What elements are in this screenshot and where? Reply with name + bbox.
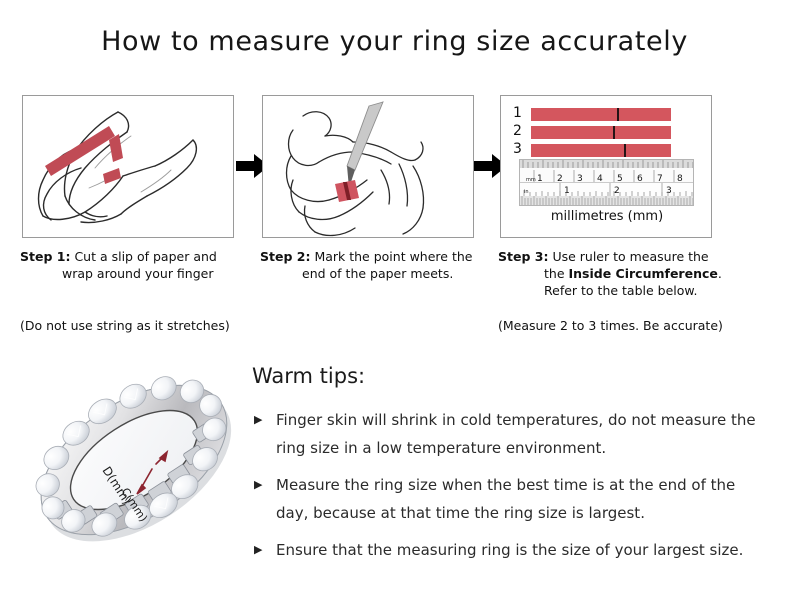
strip-2-bar	[531, 126, 671, 139]
step-3-text-1: Use ruler to measure the	[552, 249, 708, 264]
step-1-note: (Do not use string as it stretches)	[20, 317, 230, 334]
ruler-caption: millimetres (mm)	[501, 209, 712, 224]
svg-text:mm: mm	[526, 177, 536, 183]
strip-2-label: 2	[513, 123, 527, 139]
svg-text:4: 4	[597, 174, 603, 184]
measured-strip-3: 3	[513, 144, 703, 157]
svg-text:6: 6	[637, 174, 643, 184]
step-3-note: (Measure 2 to 3 times. Be accurate)	[498, 317, 723, 334]
triangle-bullet-icon: ▶	[254, 536, 262, 564]
step-1-caption-line-1: Step 1: Cut a slip of paper and	[20, 248, 252, 265]
svg-text:8: 8	[677, 174, 683, 184]
step-3-illustration-panel: 1 2 3 mm 1	[500, 95, 712, 238]
step-2-caption: Step 2: Mark the point where the end of …	[260, 248, 492, 282]
step-2-text-1: Mark the point where the	[314, 249, 472, 264]
warm-tips-section: Warm tips: ▶ Finger skin will shrink in …	[252, 362, 772, 573]
strip-3-mark	[624, 144, 626, 157]
step-3-caption: Step 3: Use ruler to measure the the Ins…	[498, 248, 768, 299]
svg-text:3: 3	[666, 186, 672, 196]
step-1-caption-line-2: wrap around your finger	[20, 265, 252, 282]
warm-tip-text-1: Finger skin will shrink in cold temperat…	[276, 411, 756, 457]
step-3-caption-line-1: Step 3: Use ruler to measure the	[498, 248, 768, 265]
marker-pen	[347, 102, 383, 188]
step-1-caption: Step 1: Cut a slip of paper and wrap aro…	[20, 248, 252, 282]
svg-text:2: 2	[614, 186, 620, 196]
step-1-illustration-panel	[22, 95, 234, 238]
ring-diagram: D(mm) C(mm)	[18, 352, 250, 567]
svg-text:3: 3	[577, 174, 583, 184]
step-2-illustration-panel	[262, 95, 474, 238]
step-3-text-2-suffix: .	[718, 266, 722, 281]
step-3-lead: Step 3:	[498, 249, 548, 264]
ruler-graphic: mm 1 2 3 4 5 6 7 8 in 1	[519, 159, 694, 206]
strip-1-label: 1	[513, 105, 527, 121]
paper-slip-red	[335, 180, 359, 202]
hand-marking-paper-illustration	[263, 96, 474, 238]
strip-3-bar	[531, 144, 671, 157]
step-3-emphasis-inside-circumference: Inside Circumference	[569, 266, 718, 281]
warm-tip-item-1: ▶ Finger skin will shrink in cold temper…	[252, 406, 772, 462]
strip-2-mark	[613, 126, 615, 139]
step-2-caption-line-1: Step 2: Mark the point where the	[260, 248, 492, 265]
warm-tip-item-2: ▶ Measure the ring size when the best ti…	[252, 471, 772, 527]
hand-with-paper-slip-illustration	[23, 96, 234, 238]
step-panels-row: 1 2 3 mm 1	[0, 95, 789, 240]
measured-strip-1: 1	[513, 108, 703, 121]
svg-text:2: 2	[557, 174, 563, 184]
step-3-text-2-prefix: the	[544, 266, 569, 281]
paper-slip-red	[45, 126, 123, 184]
warm-tip-text-3: Ensure that the measuring ring is the si…	[276, 541, 743, 559]
step-3-caption-line-2: the Inside Circumference.	[498, 265, 768, 282]
step-1-text-1: Cut a slip of paper and	[74, 249, 216, 264]
step-1-lead: Step 1:	[20, 249, 70, 264]
warm-tip-item-3: ▶ Ensure that the measuring ring is the …	[252, 536, 772, 564]
step-3-caption-line-3: Refer to the table below.	[498, 282, 768, 299]
warm-tips-title: Warm tips:	[252, 362, 772, 390]
strip-1-mark	[617, 108, 619, 121]
page-title: How to measure your ring size accurately	[0, 26, 789, 57]
svg-text:5: 5	[617, 174, 623, 184]
step-2-lead: Step 2:	[260, 249, 310, 264]
warm-tip-text-2: Measure the ring size when the best time…	[276, 476, 735, 522]
triangle-bullet-icon: ▶	[254, 471, 262, 499]
svg-text:1: 1	[564, 186, 570, 196]
strip-1-bar	[531, 108, 671, 121]
strip-3-label: 3	[513, 141, 527, 157]
triangle-bullet-icon: ▶	[254, 406, 262, 434]
svg-text:7: 7	[657, 174, 663, 184]
svg-text:1: 1	[537, 174, 543, 184]
measured-strip-2: 2	[513, 126, 703, 139]
svg-text:in: in	[524, 189, 529, 195]
step-2-caption-line-2: end of the paper meets.	[260, 265, 492, 282]
